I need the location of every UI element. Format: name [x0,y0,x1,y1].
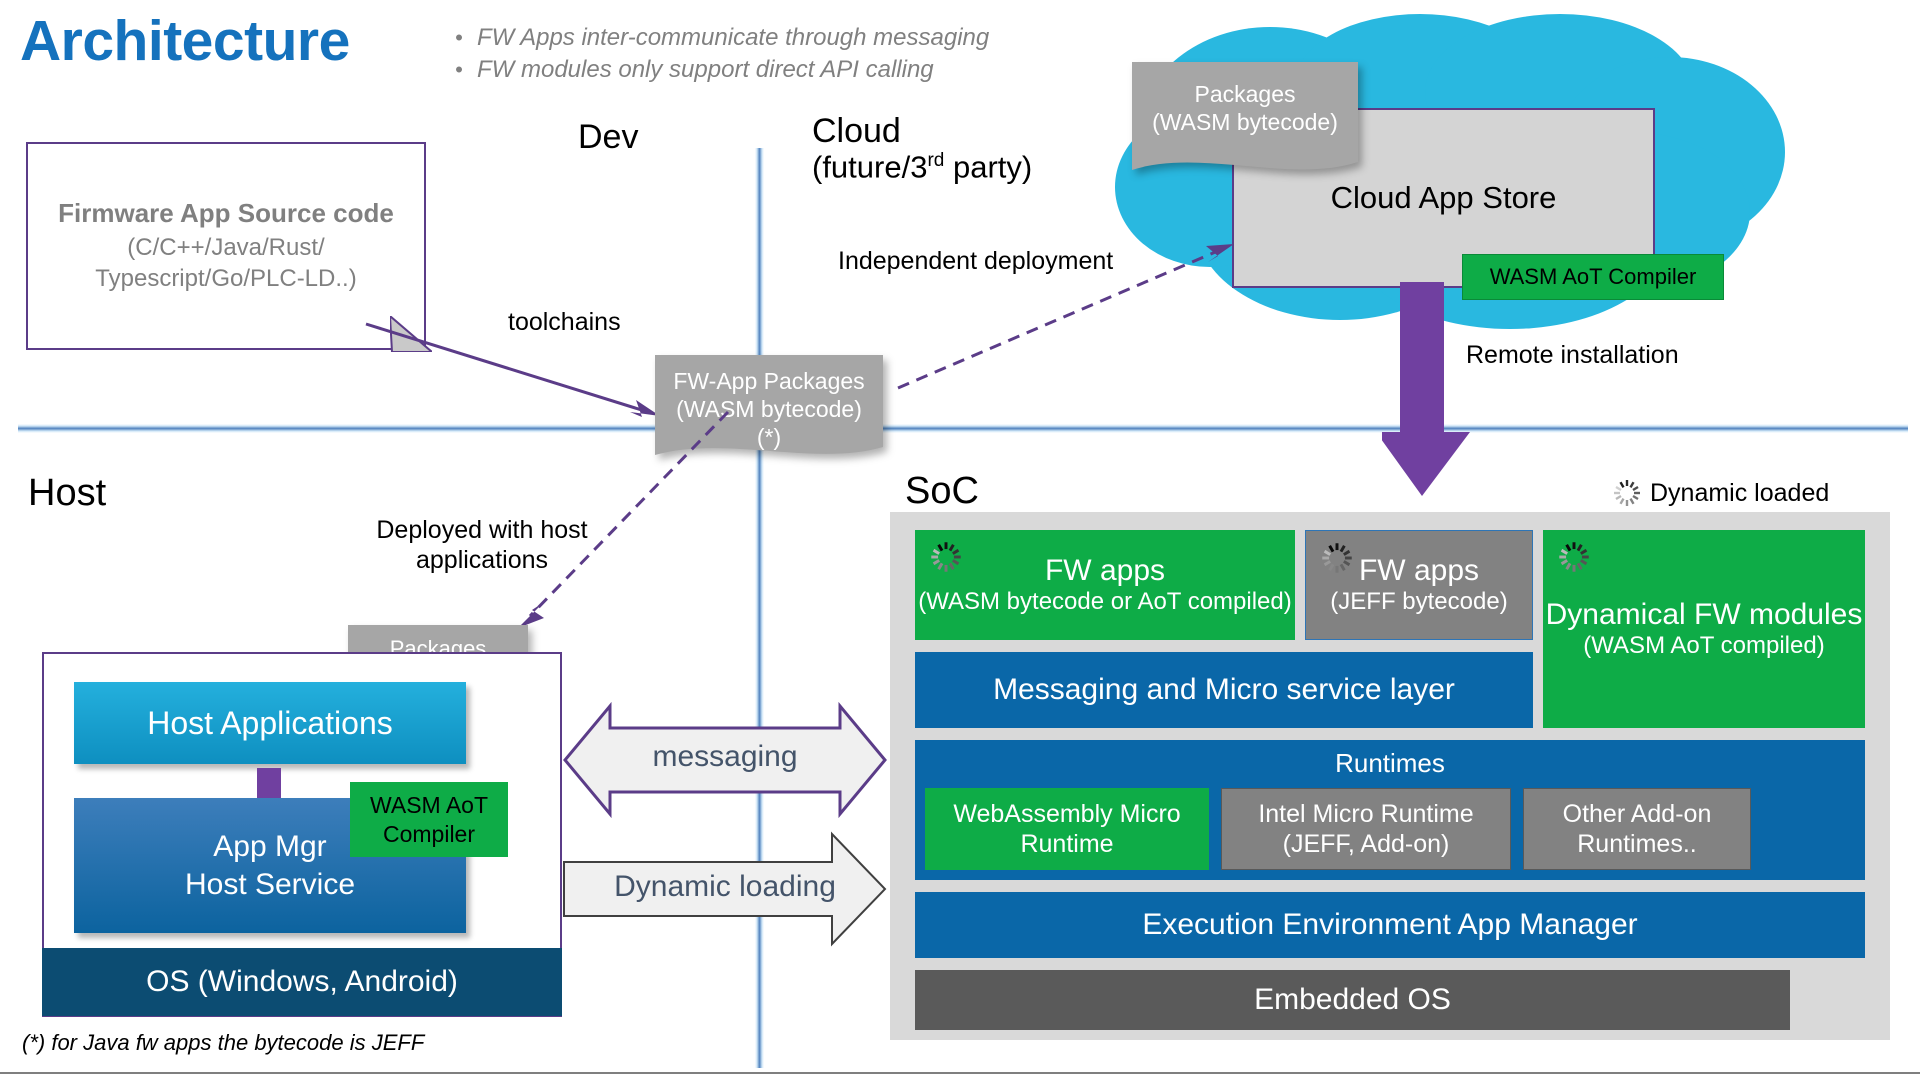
soc-fw-apps-jeff-box: FW apps (JEFF bytecode) [1305,530,1533,640]
bullet-item: • FW modules only support direct API cal… [455,54,1135,86]
source-box-title: Firmware App Source code [58,198,394,229]
soc-runtime-webassembly-micro: WebAssembly Micro Runtime [925,788,1209,870]
label-remote-installation: Remote installation [1466,340,1679,370]
cloud-packages-shape: Packages (WASM bytecode) [1132,62,1358,182]
soc-runtime-intel-micro: Intel Micro Runtime (JEFF, Add-on) [1221,788,1511,870]
host-wasm-aot-compiler-box: WASM AoT Compiler [350,782,508,857]
remote-installation-arrow [1382,282,1482,500]
bullet-text: FW modules only support direct API calli… [477,54,934,86]
section-label-cloud: Cloud (future/3rd party) [812,112,1032,185]
cloud-packages-text: Packages (WASM bytecode) [1132,80,1358,136]
deployed-with-host-arrow [500,404,740,644]
cloud-packages-line1: Packages [1132,80,1358,108]
soc-runtimes-box: Runtimes WebAssembly Micro Runtime Intel… [915,740,1865,880]
soc-runtime-intel-line1: Intel Micro Runtime [1258,799,1473,829]
soc-runtime-other-line1: Other Add-on [1563,799,1712,829]
host-aot-line1: WASM AoT [370,791,488,819]
soc-embedded-os-label: Embedded OS [1254,983,1451,1018]
bullet-dot-icon: • [455,23,477,52]
bullet-item: • FW Apps inter-communicate through mess… [455,22,1135,54]
soc-dynamical-fw-modules-box: Dynamical FW modules (WASM AoT compiled) [1543,530,1865,728]
footer-rule [0,1072,1920,1074]
soc-exec-mgr-label: Execution Environment App Manager [1142,908,1637,943]
host-appmgr-line1: App Mgr [213,828,326,866]
soc-messaging-layer-label: Messaging and Micro service layer [993,673,1455,708]
cloud-wasm-aot-compiler-box: WASM AoT Compiler [1462,254,1724,300]
page-title: Architecture [20,8,350,74]
soc-execution-env-app-manager-box: Execution Environment App Manager [915,892,1865,958]
section-label-dev: Dev [578,118,638,156]
spinner-icon [929,540,963,579]
spinner-icon [1557,540,1591,579]
soc-runtime-other-addon: Other Add-on Runtimes.. [1523,788,1751,870]
host-applications-box: Host Applications [74,682,466,764]
soc-messaging-layer-box: Messaging and Micro service layer [915,652,1533,728]
spinner-icon [1320,541,1354,580]
messaging-arrow-label: messaging [560,740,890,774]
soc-fw-apps-jeff-title: FW apps [1359,554,1479,589]
soc-fw-apps-wasm-sub: (WASM bytecode or AoT compiled) [918,588,1291,616]
soc-runtime-wasm-line1: WebAssembly Micro [953,799,1180,829]
soc-embedded-os-box: Embedded OS [915,970,1790,1030]
legend-dynamic-loaded: Dynamic loaded [1612,478,1829,508]
dynamic-loading-arrow-label: Dynamic loading [560,870,890,904]
dynamic-loading-arrow: Dynamic loading [560,824,890,959]
section-label-cloud-sub: (future/3rd party) [812,150,1032,185]
label-independent-deployment: Independent deployment [838,246,1113,276]
source-box-line1: (C/C++/Java/Rust/ [127,233,324,264]
soc-runtimes-title: Runtimes [1335,748,1445,779]
section-label-host: Host [28,472,106,515]
bullet-list: • FW Apps inter-communicate through mess… [455,22,1135,85]
host-appmgr-line2: Host Service [185,866,355,904]
messaging-arrow: messaging [560,700,890,825]
soc-panel: FW apps (WASM bytecode or AoT compiled) [890,512,1890,1040]
soc-runtime-other-line2: Runtimes.. [1577,829,1696,859]
host-aot-line2: Compiler [383,820,475,848]
section-label-soc: SoC [905,470,979,513]
soc-runtime-row: WebAssembly Micro Runtime Intel Micro Ru… [925,788,1855,870]
bullet-dot-icon: • [455,55,477,84]
source-box-line2: Typescript/Go/PLC-LD..) [95,264,356,295]
host-os-box: OS (Windows, Android) [42,948,562,1016]
soc-fw-apps-jeff-sub: (JEFF bytecode) [1330,588,1507,616]
soc-runtime-wasm-line2: Runtime [1020,829,1113,859]
soc-dyn-modules-sub: (WASM AoT compiled) [1583,632,1824,660]
cloud-packages-line2: (WASM bytecode) [1132,108,1358,136]
bullet-text: FW Apps inter-communicate through messag… [477,22,989,54]
divider-horizontal [18,424,1908,433]
soc-fw-apps-wasm-box: FW apps (WASM bytecode or AoT compiled) [915,530,1295,640]
section-label-cloud-title: Cloud [812,112,1032,150]
soc-runtime-intel-line2: (JEFF, Add-on) [1283,829,1450,859]
label-toolchains: toolchains [508,307,621,337]
soc-fw-apps-wasm-title: FW apps [1045,554,1165,589]
footnote: (*) for Java fw apps the bytecode is JEF… [22,1030,424,1056]
soc-dyn-modules-title: Dynamical FW modules [1546,598,1863,633]
spinner-icon [1612,478,1642,508]
legend-dynamic-loaded-label: Dynamic loaded [1650,479,1829,508]
fw-app-packages-line1: FW-App Packages [655,367,883,395]
